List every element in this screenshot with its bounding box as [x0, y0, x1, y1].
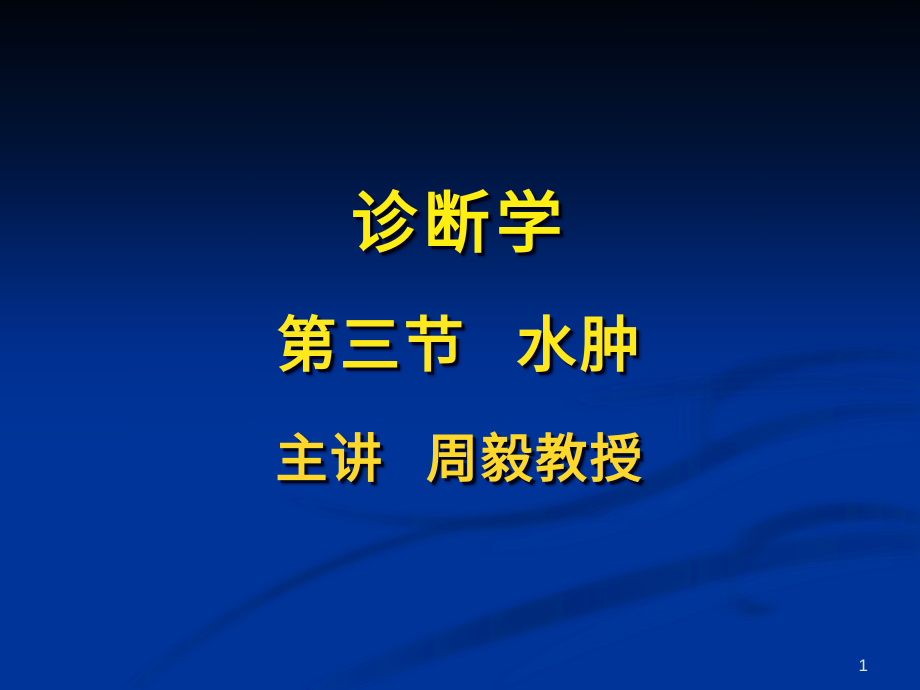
page-number: 1 [859, 656, 868, 676]
presentation-slide: 诊断学 第三节 水肿 主讲 周毅教授 1 [0, 0, 920, 690]
slide-title-line-1: 诊断学 [0, 185, 920, 261]
slide-title-line-2: 第三节 水肿 [0, 310, 920, 382]
slide-title-line-3: 主讲 周毅教授 [0, 428, 920, 492]
title-text-block: 诊断学 第三节 水肿 主讲 周毅教授 [0, 0, 920, 690]
